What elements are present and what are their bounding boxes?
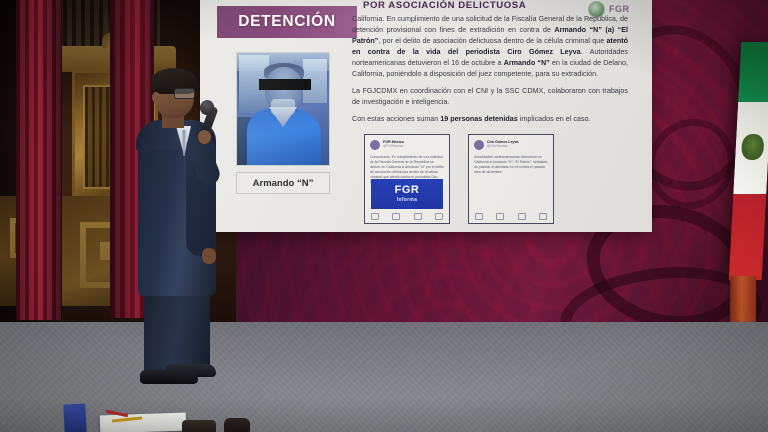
desk-object (182, 420, 216, 432)
emphasis-text: 19 personas detenidas (440, 114, 518, 123)
reply-icon (371, 213, 379, 220)
tweet-card: Ciro Gómez Leyva @CiroGomezL Autoridades… (468, 134, 554, 224)
slide-paragraph: La FGJCDMX en coordinación con el CNI y … (352, 86, 628, 108)
detainee-name: Armando “N” (253, 178, 314, 189)
fgr-badge-label: FGR (609, 4, 630, 14)
like-icon (518, 213, 526, 220)
reply-icon (475, 213, 483, 220)
avatar (474, 140, 484, 150)
fgr-card-subtitle: Informa (397, 197, 417, 203)
tweet-card: FGR México @FGRMexico Comunicado. En cum… (364, 134, 450, 224)
slide-paragraph: California. En cumplimiento de una solic… (352, 14, 628, 80)
tweet-header: FGR México @FGRMexico (370, 140, 444, 153)
fgr-card-title: FGR (395, 185, 420, 196)
fgr-informa-card: FGR Informa (371, 179, 443, 209)
body-text: Con estas acciones suman (352, 114, 440, 123)
share-icon (539, 213, 547, 220)
red-curtain (16, 0, 62, 320)
detainee-photo (236, 52, 330, 166)
slide-title: DETENCIÓN (238, 13, 336, 31)
tweet-actions (371, 212, 443, 220)
like-icon (414, 213, 422, 220)
eyeglasses-icon (174, 88, 195, 99)
slide-title-band: DETENCIÓN (217, 6, 357, 38)
detainee-photo-caption: Armando “N” (236, 172, 330, 194)
censor-bar-icon (259, 79, 311, 90)
speaker (136, 72, 220, 384)
body-text: , por el delito de asociación delictuosa… (378, 36, 606, 45)
slide-paragraph: Con estas acciones suman 19 personas det… (352, 114, 628, 125)
body-text: La FGJCDMX en coordinación con el CNI y … (352, 86, 628, 106)
tweet-text: Autoridades norteamericanas detuvieron e… (474, 155, 548, 175)
body-text: implicados en el caso. (518, 114, 591, 123)
desk-object (224, 418, 250, 432)
retweet-icon (392, 213, 400, 220)
detainee-photo-card: Armando “N” (222, 50, 342, 210)
emphasis-text: Armando “N” (504, 58, 550, 67)
retweet-icon (496, 213, 504, 220)
desk-items (64, 404, 254, 432)
share-icon (435, 213, 443, 220)
slide-subtitle: POR ASOCIACIÓN DELICTUOSA (363, 0, 593, 11)
tweet-handle: @CiroGomezL (487, 144, 518, 148)
folder (63, 403, 87, 432)
screenshot-stage: DETENCIÓN POR ASOCIACIÓN DELICTUOSA FGR … (0, 0, 768, 432)
slide-body-text: California. En cumplimiento de una solic… (352, 14, 628, 130)
avatar (370, 140, 380, 150)
tweet-handle: @FGRMexico (383, 144, 404, 148)
tweet-actions (475, 212, 547, 220)
presentation-screen: DETENCIÓN POR ASOCIACIÓN DELICTUOSA FGR … (200, 0, 652, 232)
tweet-header: Ciro Gómez Leyva @CiroGomezL (474, 140, 548, 153)
